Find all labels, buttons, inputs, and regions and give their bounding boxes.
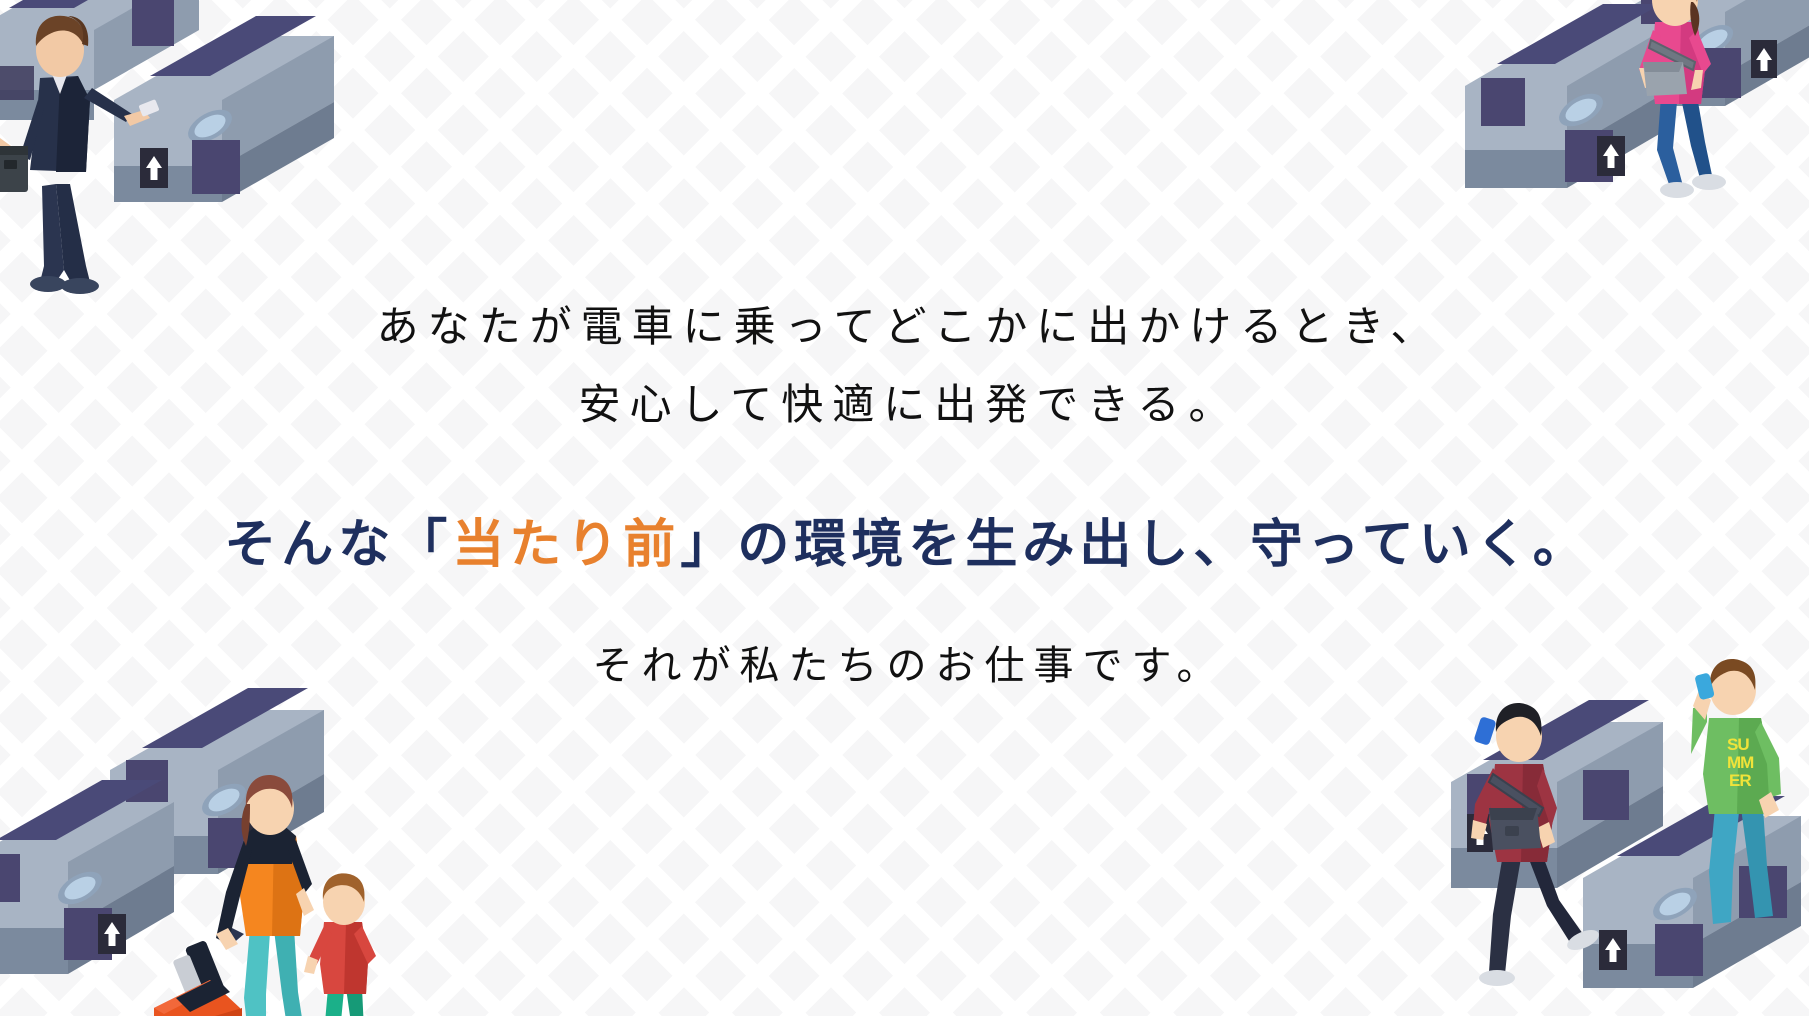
illustration-top-left-businessman [0, 0, 364, 300]
gate-arrow-icon [1599, 930, 1627, 970]
illustration-bottom-right-men: SU MM ER [1431, 662, 1809, 1016]
svg-text:MM: MM [1727, 753, 1754, 772]
headline: そんな「当たり前」の環境を生み出し、守っていく。 [0, 514, 1809, 576]
headline-highlight: 当たり前 [452, 516, 680, 574]
gate-arrow-icon [140, 148, 168, 188]
gate-arrow-icon [98, 914, 126, 954]
ticket-gate [0, 780, 174, 974]
hero-copy-block: あなたが電車に乗ってどこかに出かけるとき、 安心して快適に出発できる。 そんな「… [0, 288, 1809, 694]
svg-text:SU: SU [1727, 735, 1749, 754]
ticket-gate [1465, 4, 1673, 188]
copy-closing: それが私たちのお仕事です。 [0, 638, 1809, 694]
copy-line-1: あなたが電車に乗ってどこかに出かけるとき、 [0, 288, 1809, 366]
gate-arrow-icon [1597, 136, 1625, 176]
copy-line-2: 安心して快適に出発できる。 [0, 366, 1809, 444]
phone-icon [1473, 716, 1496, 746]
svg-text:ER: ER [1729, 771, 1751, 790]
figure-child [304, 873, 376, 1016]
gate-arrow-icon [1751, 40, 1777, 78]
illustration-top-right-woman [1425, 0, 1809, 228]
headline-pre: そんな「 [224, 516, 452, 574]
illustration-bottom-left-family [0, 716, 408, 1016]
headline-post: 」の環境を生み出し、守っていく。 [680, 516, 1589, 574]
hero-section: SU MM ER あなたが電車に乗ってどこかに出かけるとき、 安心して快適に出発… [0, 0, 1809, 1016]
